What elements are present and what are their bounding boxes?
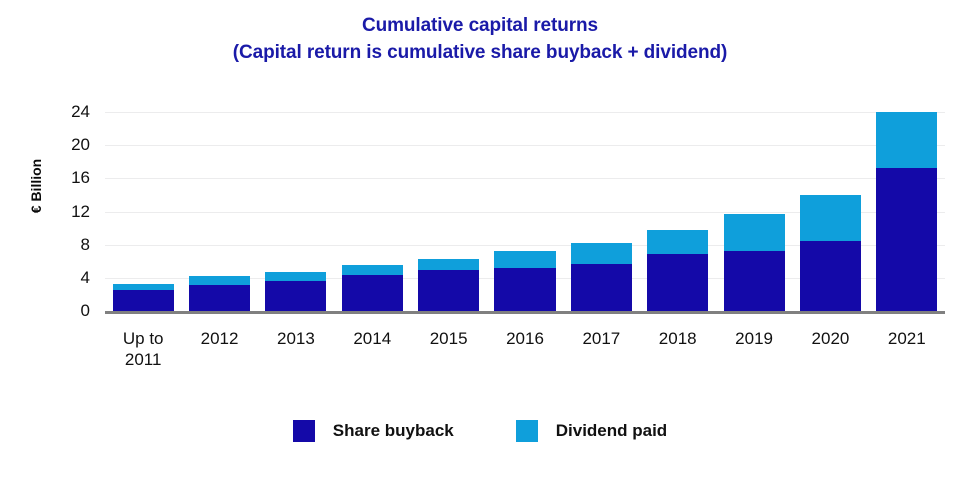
y-tick-label: 20 <box>44 136 90 153</box>
x-tick-label-line: 2016 <box>487 328 563 349</box>
bar-segment-share-buyback[interactable] <box>800 241 861 311</box>
bars-layer <box>105 0 945 480</box>
x-tick-label-line: Up to <box>105 328 181 349</box>
y-tick-label: 8 <box>44 236 90 253</box>
y-axis-tick-labels: 04812162024 <box>44 0 90 480</box>
x-tick-label: 2021 <box>869 328 945 349</box>
bar-segment-dividend-paid[interactable] <box>724 214 785 251</box>
chart-legend: Share buybackDividend paid <box>0 420 960 442</box>
bar-segment-share-buyback[interactable] <box>418 270 479 311</box>
bar-segment-share-buyback[interactable] <box>571 264 632 311</box>
x-tick-label-line: 2017 <box>563 328 639 349</box>
bar-segment-share-buyback[interactable] <box>876 168 937 311</box>
legend-label: Share buyback <box>333 421 454 441</box>
legend-item-dividend-paid[interactable]: Dividend paid <box>516 420 667 442</box>
x-tick-label: 2015 <box>410 328 486 349</box>
bar-segment-dividend-paid[interactable] <box>265 272 326 281</box>
bar-group[interactable] <box>113 284 174 311</box>
bar-segment-dividend-paid[interactable] <box>189 276 250 285</box>
x-tick-label-line: 2018 <box>640 328 716 349</box>
bar-segment-share-buyback[interactable] <box>647 254 708 311</box>
bar-segment-dividend-paid[interactable] <box>418 259 479 271</box>
x-tick-label-line: 2021 <box>869 328 945 349</box>
bar-segment-share-buyback[interactable] <box>113 290 174 311</box>
bar-segment-dividend-paid[interactable] <box>800 195 861 241</box>
bar-group[interactable] <box>494 251 555 311</box>
bar-segment-dividend-paid[interactable] <box>113 284 174 291</box>
bar-segment-share-buyback[interactable] <box>342 275 403 311</box>
x-tick-label-line: 2020 <box>792 328 868 349</box>
bar-group[interactable] <box>418 259 479 311</box>
x-tick-label: 2017 <box>563 328 639 349</box>
x-tick-label: 2016 <box>487 328 563 349</box>
bar-segment-share-buyback[interactable] <box>494 268 555 311</box>
x-tick-label: 2012 <box>181 328 257 349</box>
bar-group[interactable] <box>876 112 937 311</box>
y-axis-title: € Billion <box>28 126 44 246</box>
bar-segment-dividend-paid[interactable] <box>647 230 708 254</box>
bar-segment-share-buyback[interactable] <box>265 281 326 311</box>
bar-group[interactable] <box>571 243 632 311</box>
y-tick-label: 0 <box>44 302 90 319</box>
x-tick-label-line: 2014 <box>334 328 410 349</box>
x-tick-label: 2014 <box>334 328 410 349</box>
bar-segment-dividend-paid[interactable] <box>494 251 555 268</box>
plot-area: € Billion 04812162024 Up to2011201220132… <box>0 0 960 480</box>
bar-segment-dividend-paid[interactable] <box>342 265 403 274</box>
chart-container: Cumulative capital returns (Capital retu… <box>0 0 960 480</box>
x-tick-label: Up to2011 <box>105 328 181 370</box>
x-tick-label-line: 2011 <box>105 349 181 370</box>
legend-item-share-buyback[interactable]: Share buyback <box>293 420 454 442</box>
bar-group[interactable] <box>724 214 785 311</box>
bar-group[interactable] <box>647 230 708 311</box>
bar-segment-share-buyback[interactable] <box>189 285 250 311</box>
bar-group[interactable] <box>189 276 250 311</box>
x-tick-label-line: 2015 <box>410 328 486 349</box>
legend-label: Dividend paid <box>556 421 667 441</box>
y-tick-label: 4 <box>44 269 90 286</box>
y-tick-label: 12 <box>44 203 90 220</box>
x-tick-label: 2019 <box>716 328 792 349</box>
y-tick-label: 24 <box>44 103 90 120</box>
bar-group[interactable] <box>800 195 861 311</box>
x-tick-label: 2013 <box>258 328 334 349</box>
x-axis-tick-labels: Up to20112012201320142015201620172018201… <box>105 322 945 382</box>
x-tick-label: 2020 <box>792 328 868 349</box>
bar-segment-dividend-paid[interactable] <box>571 243 632 264</box>
x-tick-label: 2018 <box>640 328 716 349</box>
legend-swatch-share-buyback <box>293 420 315 442</box>
bar-group[interactable] <box>342 265 403 311</box>
bar-group[interactable] <box>265 272 326 311</box>
legend-swatch-dividend-paid <box>516 420 538 442</box>
bar-segment-share-buyback[interactable] <box>724 251 785 311</box>
x-tick-label-line: 2013 <box>258 328 334 349</box>
x-tick-label-line: 2019 <box>716 328 792 349</box>
x-tick-label-line: 2012 <box>181 328 257 349</box>
bar-segment-dividend-paid[interactable] <box>876 112 937 168</box>
y-tick-label: 16 <box>44 169 90 186</box>
